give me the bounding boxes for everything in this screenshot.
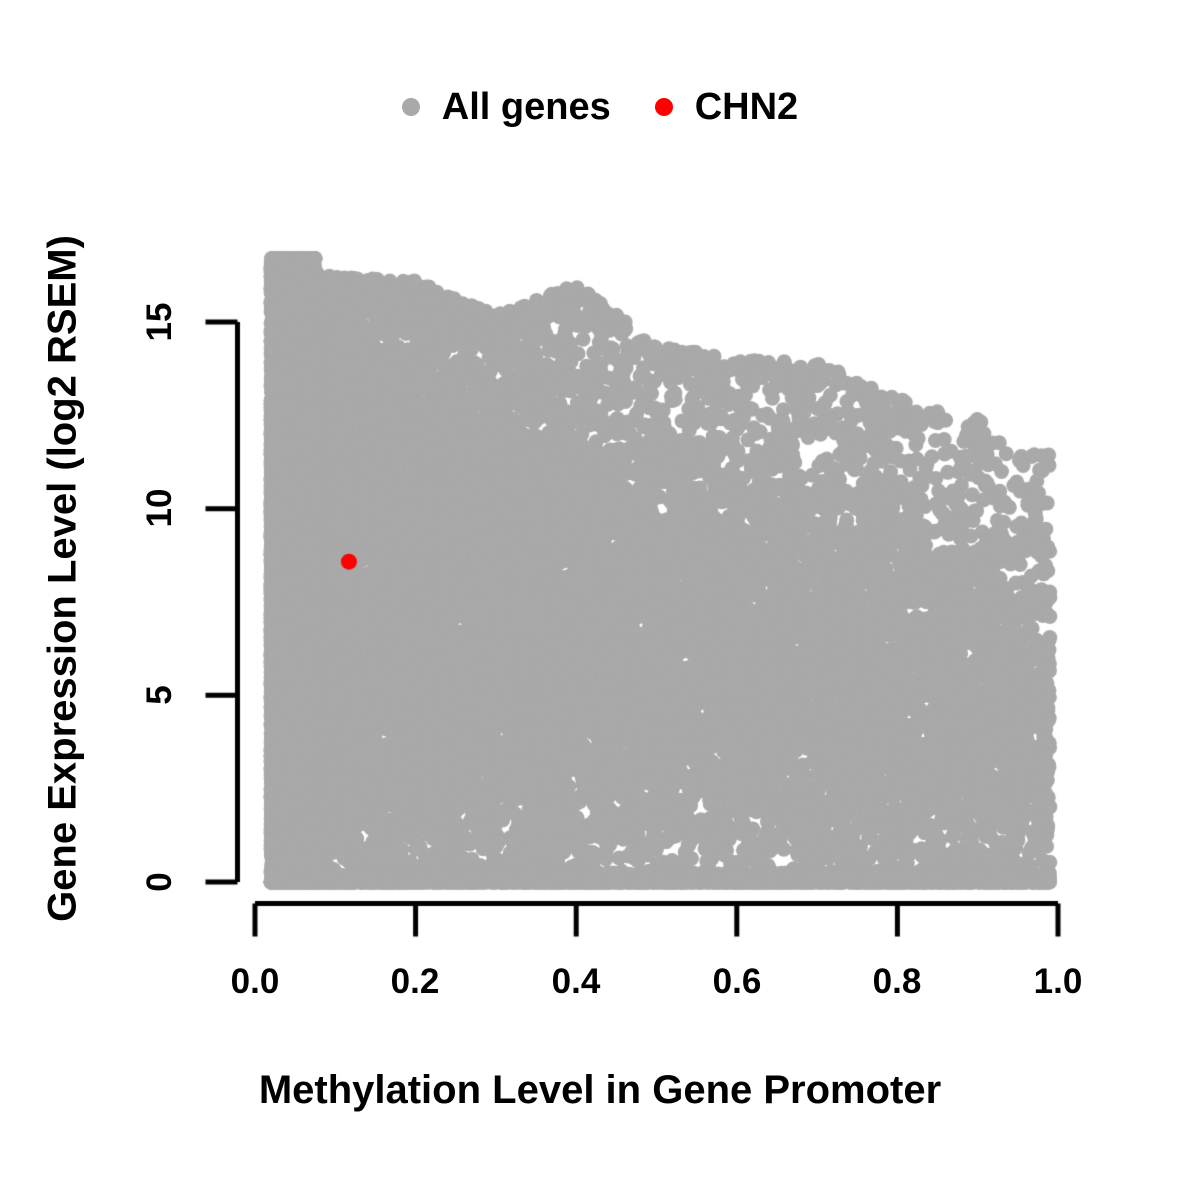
x-tick-label-1: 0.2 — [345, 962, 485, 1002]
y-tick-label-3: 15 — [140, 262, 180, 382]
legend-label-chn2: CHN2 — [695, 88, 798, 126]
legend-label-all-genes: All genes — [442, 88, 611, 126]
scatter-plot-canvas — [0, 0, 1200, 1200]
x-tick-label-2: 0.4 — [506, 962, 646, 1002]
chart-legend: All genes CHN2 — [0, 78, 1200, 136]
scatter-plot-figure: All genes CHN2 0.0 0.2 0.4 0.6 0.8 1.0 0… — [0, 0, 1200, 1200]
x-tick-label-3: 0.6 — [667, 962, 807, 1002]
x-tick-label-0: 0.0 — [185, 962, 325, 1002]
x-axis-label: Methylation Level in Gene Promoter — [0, 1068, 1200, 1113]
y-tick-label-1: 5 — [140, 635, 180, 755]
x-tick-label-4: 0.8 — [827, 962, 967, 1002]
gray-dot-icon — [402, 98, 420, 116]
legend-entry-chn2: CHN2 — [655, 88, 798, 126]
x-tick-label-5: 1.0 — [988, 962, 1128, 1002]
y-tick-label-2: 10 — [140, 448, 180, 568]
y-tick-label-0: 0 — [140, 822, 180, 942]
legend-entry-all-genes: All genes — [402, 88, 611, 126]
y-axis-label: Gene Expression Level (log2 RSEM) — [41, 0, 86, 1179]
red-dot-icon — [655, 98, 673, 116]
